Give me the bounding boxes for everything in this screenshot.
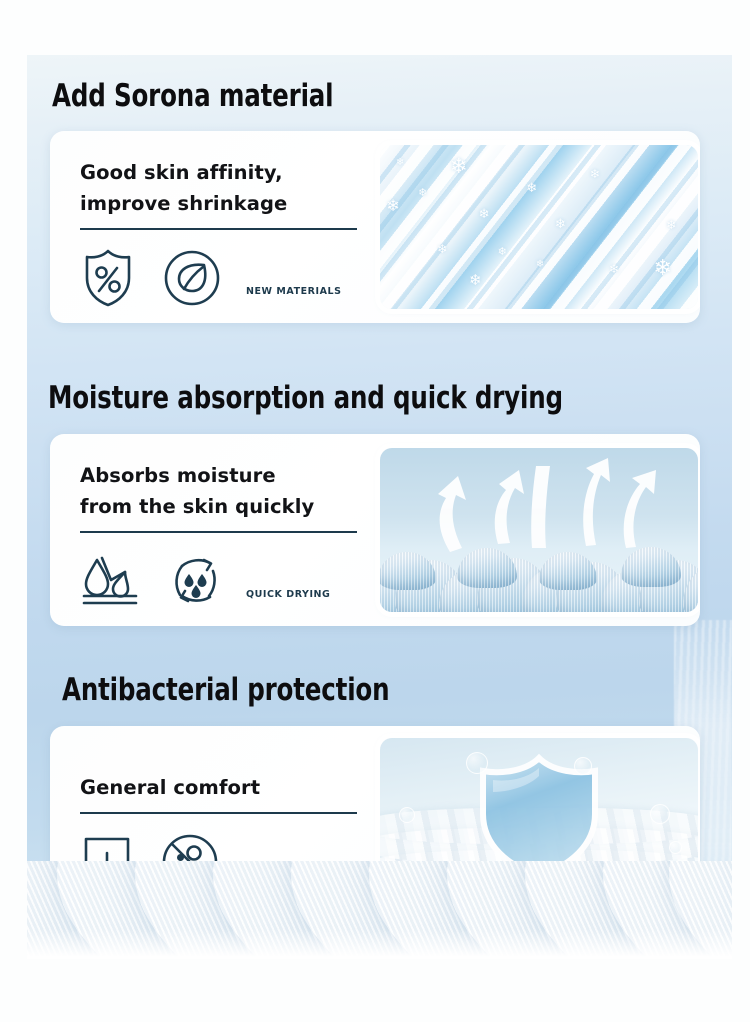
card-moisture-tagline: QUICK DRYING <box>246 589 330 600</box>
bubble <box>399 807 415 823</box>
card-moisture-text-area: Absorbs moisture from the skin quickly <box>50 434 368 626</box>
section-heading-moisture: Moisture absorption and quick drying <box>48 380 666 416</box>
bubble <box>574 757 592 775</box>
leaf-circle-icon <box>162 248 222 308</box>
section-heading-antibacterial: Antibacterial protection <box>62 672 667 708</box>
section-heading-sorona: Add Sorona material <box>52 78 666 114</box>
card-sorona-text-area: Good skin affinity, improve shrinkage <box>50 131 368 323</box>
card-sorona-tagline: NEW MATERIALS <box>246 286 342 297</box>
water-repellent-icon <box>80 550 140 612</box>
card-sorona: Good skin affinity, improve shrinkage <box>50 131 700 323</box>
card-sorona-icon-row <box>80 247 368 309</box>
card-antibacterial-title-line-1: General comfort <box>80 772 368 803</box>
snowflake-fibre-photo <box>380 145 698 309</box>
card-moisture: Absorbs moisture from the skin quickly <box>50 434 700 626</box>
fabric-domes <box>380 528 698 612</box>
card-moisture-media <box>380 448 698 612</box>
card-moisture-icon-row <box>80 550 368 612</box>
section-sorona: Add Sorona material Good skin affinity, … <box>0 78 750 323</box>
section-moisture: Moisture absorption and quick drying Abs… <box>0 380 750 626</box>
shield-percent-icon <box>80 247 136 309</box>
footer-fade <box>27 929 732 959</box>
card-moisture-title-line-2: from the skin quickly <box>80 491 368 522</box>
card-sorona-media: ❄ ❄ ❄ ❄ ❄ ❄ ❄ ❄ ❄ ❄ ❄ ❄ ❄ ❄ ❄ <box>380 145 698 309</box>
card-antibacterial-divider <box>80 812 357 814</box>
bubble <box>650 804 670 824</box>
card-sorona-divider <box>80 228 357 230</box>
card-moisture-title-line-1: Absorbs moisture <box>80 460 368 491</box>
card-sorona-title-line-1: Good skin affinity, <box>80 157 368 188</box>
quick-dry-cycle-icon <box>166 551 226 611</box>
card-sorona-title-line-2: improve shrinkage <box>80 188 368 219</box>
card-moisture-divider <box>80 531 357 533</box>
bubble <box>466 752 488 774</box>
footer-fabric-photo <box>27 861 732 959</box>
infographic-page: Add Sorona material Good skin affinity, … <box>0 0 750 1022</box>
